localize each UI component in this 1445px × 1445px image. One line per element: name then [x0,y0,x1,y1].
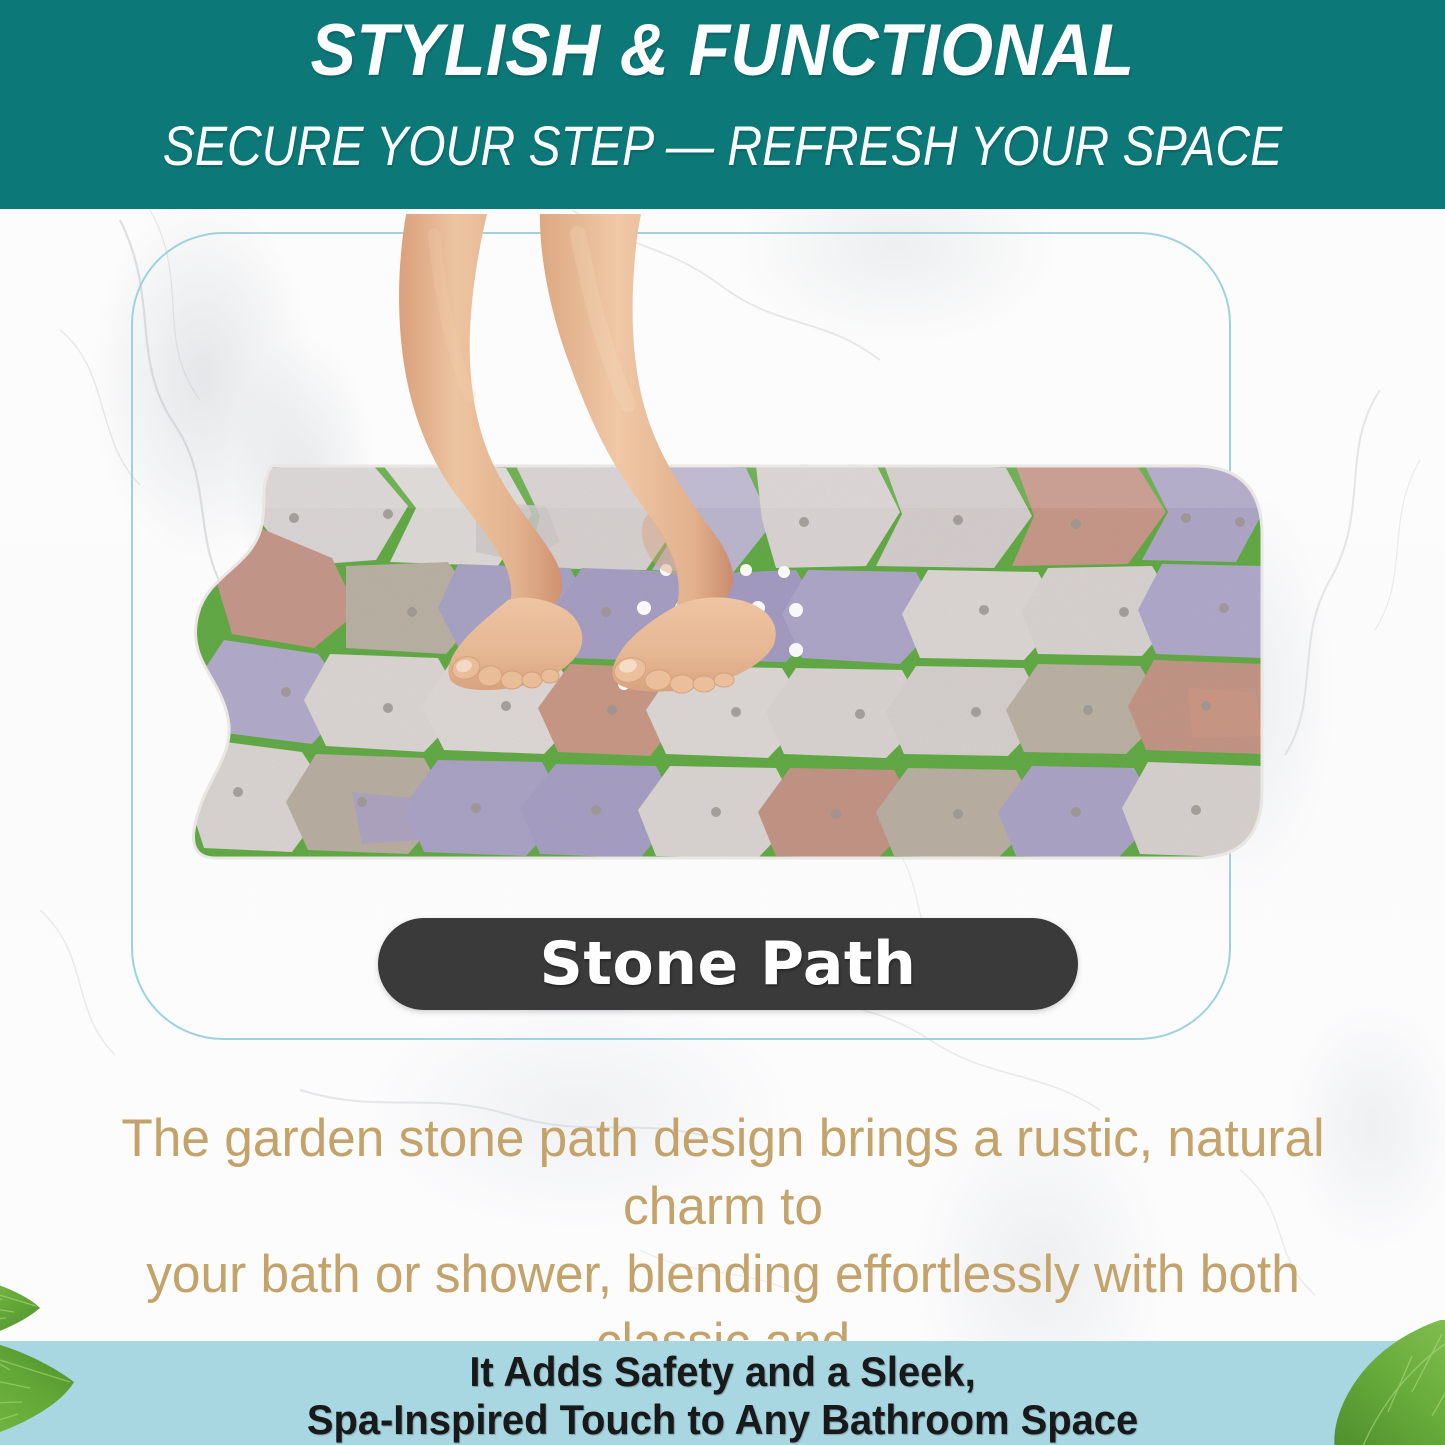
model-legs-and-feet [390,214,790,694]
footer-tagline: It Adds Safety and a Sleek, Spa-Inspired… [36,1348,1409,1444]
product-infographic: STYLISH & FUNCTIONAL SECURE YOUR STEP — … [0,0,1445,1445]
leaf-decoration-right [1292,1320,1445,1445]
leaf-decoration-left [0,1278,232,1445]
header-banner: STYLISH & FUNCTIONAL SECURE YOUR STEP — … [0,0,1445,209]
product-name-label: Stone Path [540,933,917,995]
description-line-1: The garden stone path design brings a ru… [68,1105,1378,1241]
footer-line-1: It Adds Safety and a Sleek, [36,1348,1409,1396]
headline: STYLISH & FUNCTIONAL [51,8,1395,94]
subheadline: SECURE YOUR STEP — REFRESH YOUR SPACE [101,113,1344,179]
footer-line-2: Spa-Inspired Touch to Any Bathroom Space [36,1396,1409,1444]
left-leg [399,214,562,611]
product-name-badge: Stone Path [378,918,1078,1010]
right-leg [540,214,733,610]
